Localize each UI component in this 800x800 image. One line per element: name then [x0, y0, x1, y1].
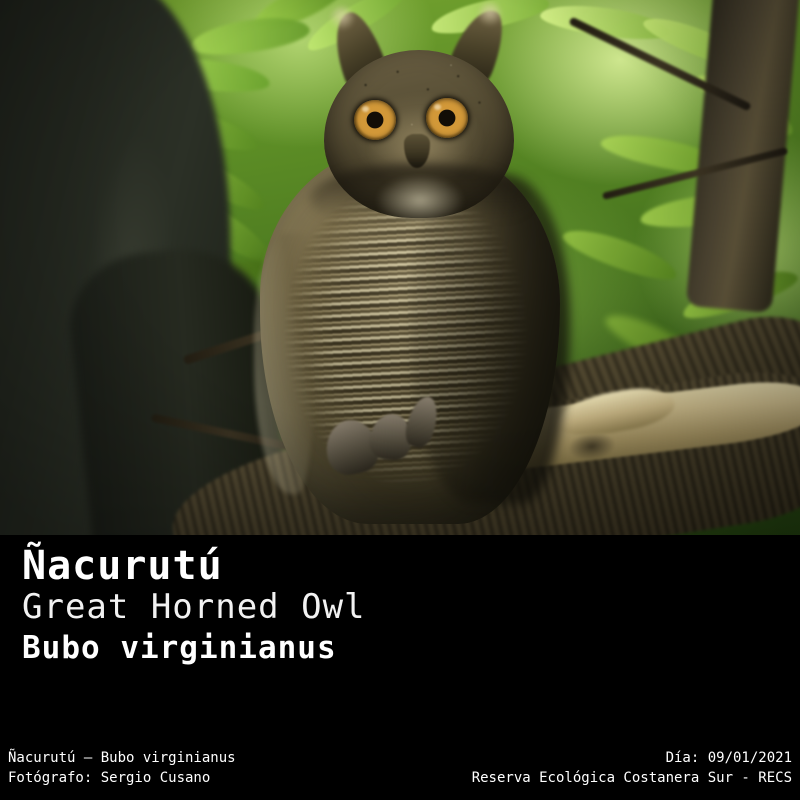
footer-photographer-line: Fotógrafo: Sergio Cusano — [8, 768, 236, 788]
owl-eye-highlight-right — [434, 104, 441, 110]
owl-photograph — [0, 0, 800, 535]
owl-ear-tuft-tip-right — [478, 2, 502, 28]
owl-eye-highlight-left — [362, 106, 369, 112]
common-name-english: Great Horned Owl — [22, 590, 366, 624]
owl-throat-patch — [360, 174, 480, 240]
owl-eye-left — [354, 100, 396, 140]
footer-species-line: Ñacurutú — Bubo virginianus — [8, 748, 236, 768]
caption-panel: Ñacurutú Great Horned Owl Bubo virginian… — [0, 535, 800, 800]
owl-wing-left — [254, 234, 316, 494]
scientific-name: Bubo virginianus — [22, 633, 337, 664]
footer: Ñacurutú — Bubo virginianus Fotógrafo: S… — [0, 748, 800, 800]
footer-left: Ñacurutú — Bubo virginianus Fotógrafo: S… — [8, 748, 236, 788]
common-name-spanish: Ñacurutú — [22, 546, 223, 586]
photo-card: Ñacurutú Great Horned Owl Bubo virginian… — [0, 0, 800, 800]
great-horned-owl — [240, 24, 600, 524]
footer-date-line: Día: 09/01/2021 — [472, 748, 792, 768]
footer-location-line: Reserva Ecológica Costanera Sur - RECS — [472, 768, 792, 788]
owl-ear-tuft-tip-left — [330, 6, 354, 32]
footer-right: Día: 09/01/2021 Reserva Ecológica Costan… — [472, 748, 792, 788]
owl-eye-right — [426, 98, 468, 138]
